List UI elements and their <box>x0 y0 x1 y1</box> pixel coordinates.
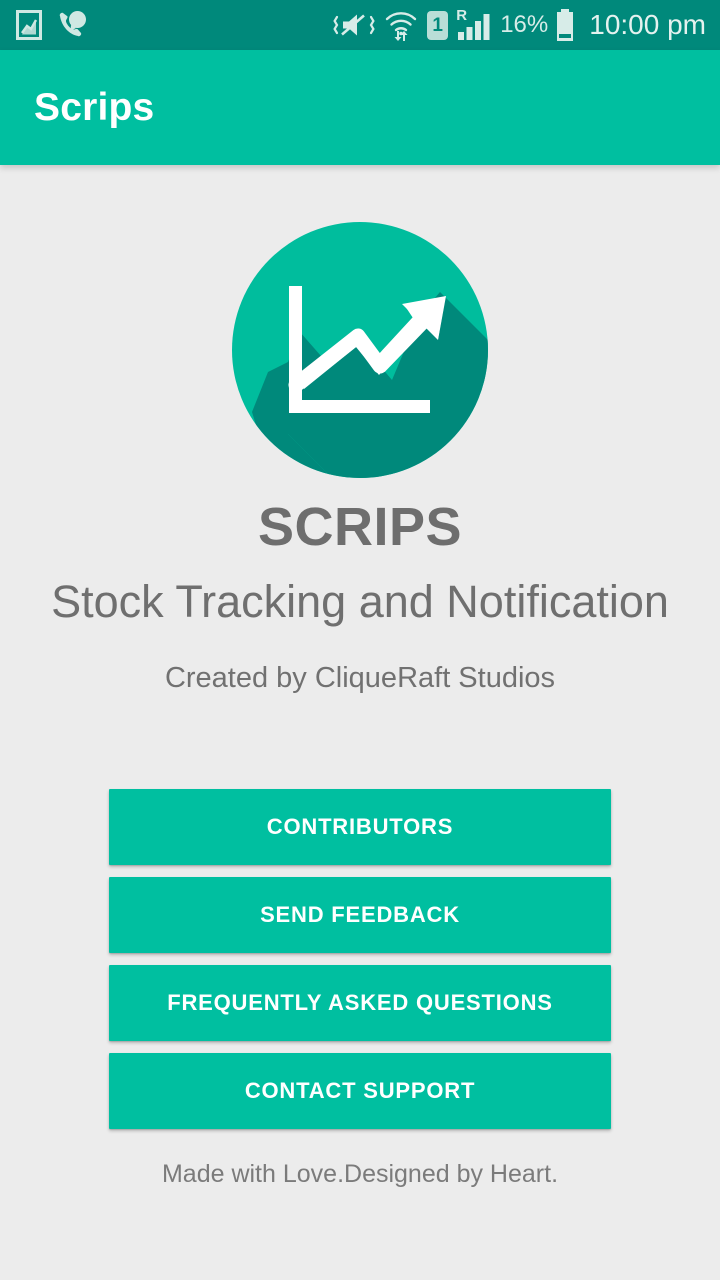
missed-call-icon <box>56 10 87 40</box>
send-feedback-button[interactable]: SEND FEEDBACK <box>109 877 611 953</box>
app-bar: Scrips <box>0 50 720 165</box>
action-button-list: CONTRIBUTORS SEND FEEDBACK FREQUENTLY AS… <box>109 789 611 1129</box>
roaming-letter: R <box>456 8 467 23</box>
app-credit: Created by CliqueRaft Studios <box>0 661 720 696</box>
roaming-signal-icon: R <box>457 10 491 40</box>
app-logo <box>232 222 488 478</box>
about-screen-content: SCRIPS Stock Tracking and Notification C… <box>0 165 720 1280</box>
status-bar-right-icons: 1 R 16% <box>333 9 706 41</box>
vibrate-mute-icon <box>333 10 375 40</box>
status-bar: 1 R 16% <box>0 0 720 50</box>
image-icon <box>16 10 42 40</box>
contributors-button[interactable]: CONTRIBUTORS <box>109 789 611 865</box>
app-bar-title: Scrips <box>34 86 154 130</box>
line-chart-trending-up-icon <box>232 222 488 478</box>
logo-circle <box>232 222 488 478</box>
status-bar-clock: 10:00 pm <box>589 9 706 41</box>
app-tagline: Stock Tracking and Notification <box>0 576 720 628</box>
status-bar-left-icons <box>16 10 87 40</box>
sim-indicator-icon: 1 <box>427 11 448 40</box>
page-title: SCRIPS <box>0 496 720 558</box>
app-screen: 1 R 16% <box>0 0 720 1280</box>
wifi-data-icon <box>384 10 418 41</box>
footer-note: Made with Love.Designed by Heart. <box>0 1160 720 1189</box>
battery-icon <box>555 9 575 41</box>
battery-percent-label: 16% <box>500 11 548 39</box>
contact-support-button[interactable]: CONTACT SUPPORT <box>109 1053 611 1129</box>
faq-button[interactable]: FREQUENTLY ASKED QUESTIONS <box>109 965 611 1041</box>
